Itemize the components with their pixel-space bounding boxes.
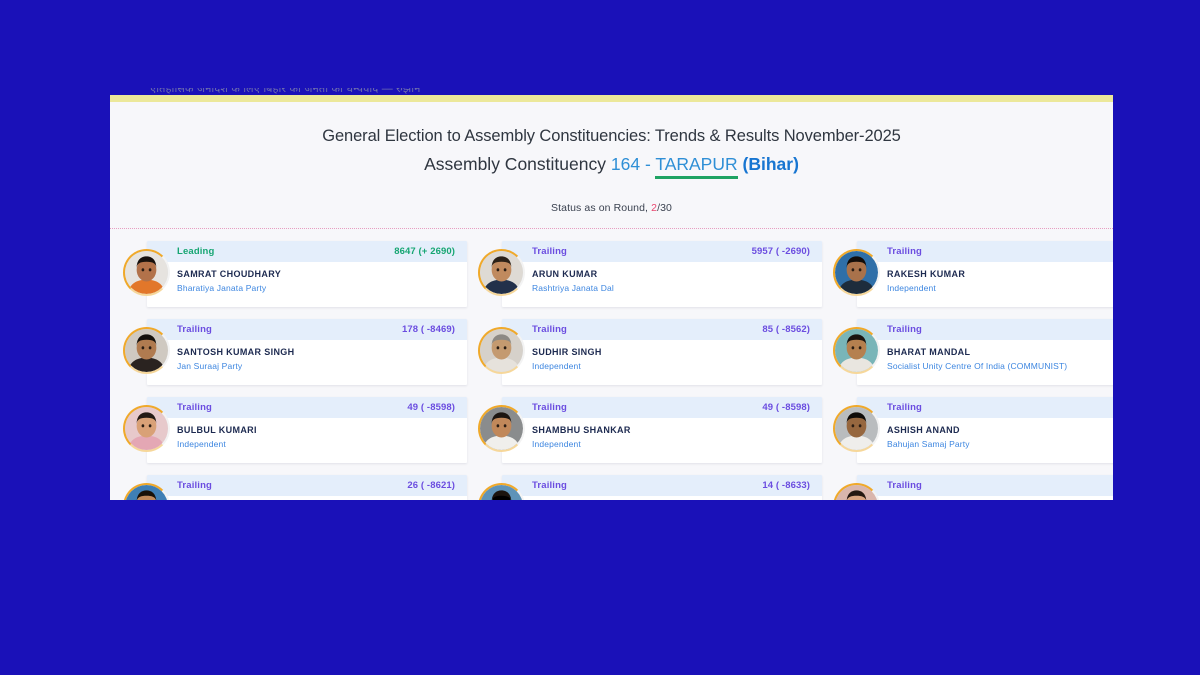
candidate-name: ARUN KUMAR bbox=[532, 268, 810, 280]
round-status-prefix: Status as on Round, bbox=[551, 202, 648, 214]
status-badge: Trailing bbox=[887, 324, 922, 335]
candidate-card-header: Trailing49 ( -8598) bbox=[147, 397, 467, 418]
status-badge: Trailing bbox=[532, 480, 567, 491]
candidate-card-body: BHARAT MANDALSocialist Unity Centre Of I… bbox=[857, 340, 1113, 385]
candidate-name: RAKESH KUMAR bbox=[887, 268, 1113, 280]
candidate-card[interactable]: Trailing178 ( -8469)SANTOSH KUMAR SINGHJ… bbox=[123, 319, 478, 385]
candidate-card-panel[interactable]: Trailing178 ( -8469)SANTOSH KUMAR SINGHJ… bbox=[147, 319, 467, 385]
status-badge: Trailing bbox=[532, 324, 567, 335]
candidate-card[interactable]: Trailing85 ( -8562)SUDHIR SINGHIndepende… bbox=[478, 319, 833, 385]
vote-count: 178 ( -8469) bbox=[402, 324, 455, 335]
candidate-party: Independent bbox=[532, 360, 810, 373]
avatar bbox=[833, 327, 880, 374]
candidate-card-header: Trailing5957 ( -2690) bbox=[502, 241, 822, 262]
candidate-grid: Leading8647 (+ 2690)SAMRAT CHOUDHARYBhar… bbox=[110, 229, 1113, 500]
status-badge: Trailing bbox=[177, 324, 212, 335]
candidate-card-header: Trailing85 ( -8562) bbox=[502, 319, 822, 340]
candidate-name: BULBUL KUMARI bbox=[177, 424, 455, 436]
candidate-card-body: PRIYANKA CHAUHANIndependent bbox=[857, 496, 1113, 500]
avatar bbox=[123, 405, 170, 452]
candidate-card-body: ASHISH ANANDBahujan Samaj Party bbox=[857, 418, 1113, 463]
candidate-card-header: Trailing14 ( -8633) bbox=[502, 475, 822, 496]
candidate-party: Independent bbox=[177, 438, 455, 451]
constituency-prefix: Assembly Constituency bbox=[424, 154, 606, 174]
candidate-card-body: SAMRAT CHOUDHARYBharatiya Janata Party bbox=[147, 262, 467, 307]
ghost-text: ऐतिहासिक जनादेश के लिए बिहार की जनता को … bbox=[150, 88, 421, 95]
candidate-card-header: Trailing49 ( -8598) bbox=[502, 397, 822, 418]
candidate-card-body: SHAMBHU SHANKARIndependent bbox=[502, 418, 822, 463]
status-badge: Trailing bbox=[177, 402, 212, 413]
candidate-card[interactable]: Trailing26 ( -8621)RAHUL KUMAR SINGHAam … bbox=[123, 475, 478, 500]
candidate-card-body: RAHUL KUMAR SINGHAam Aadmi Party bbox=[147, 496, 467, 500]
status-badge: Trailing bbox=[532, 402, 567, 413]
candidate-party: Jan Suraaj Party bbox=[177, 360, 455, 373]
candidate-name: BHARAT MANDAL bbox=[887, 346, 1113, 358]
candidate-party: Bahujan Samaj Party bbox=[887, 438, 1113, 451]
candidate-card-panel[interactable]: TrailingPRIYANKA CHAUHANIndependent bbox=[857, 475, 1113, 500]
candidate-party: Socialist Unity Centre Of India (COMMUNI… bbox=[887, 360, 1113, 373]
candidate-name: SUDHIR SINGH bbox=[532, 346, 810, 358]
scrolled-text-sliver: ऐतिहासिक जनादेश के लिए बिहार की जनता को … bbox=[110, 88, 1113, 95]
candidate-card-header: Trailing178 ( -8469) bbox=[147, 319, 467, 340]
status-badge: Trailing bbox=[887, 246, 922, 257]
candidate-party: Rashtriya Janata Dal bbox=[532, 282, 810, 295]
page-background: ऐतिहासिक जनादेश के लिए बिहार की जनता को … bbox=[0, 0, 1200, 675]
browser-viewport: ऐतिहासिक जनादेश के लिए बिहार की जनता को … bbox=[110, 88, 1113, 500]
page-title: General Election to Assembly Constituenc… bbox=[110, 124, 1113, 149]
candidate-card-panel[interactable]: Trailing49 ( -8598)SHAMBHU SHANKARIndepe… bbox=[502, 397, 822, 463]
results-page: General Election to Assembly Constituenc… bbox=[110, 102, 1113, 500]
page-header: General Election to Assembly Constituenc… bbox=[110, 102, 1113, 229]
candidate-card-body: SUDHIR SINGHIndependent bbox=[502, 340, 822, 385]
candidate-party: Independent bbox=[887, 282, 1113, 295]
candidate-party: Bharatiya Janata Party bbox=[177, 282, 455, 295]
top-accent-rule bbox=[110, 95, 1113, 102]
candidate-card[interactable]: TrailingPRIYANKA CHAUHANIndependent bbox=[833, 475, 1113, 500]
candidate-name: ASHISH ANAND bbox=[887, 424, 1113, 436]
candidate-card-body: BULBUL KUMARIIndependent bbox=[147, 418, 467, 463]
constituency-heading: Assembly Constituency 164 - TARAPUR (Bih… bbox=[110, 150, 1113, 178]
round-status: Status as on Round, 2/30 bbox=[110, 202, 1113, 214]
candidate-card[interactable]: TrailingBHARAT MANDALSocialist Unity Cen… bbox=[833, 319, 1113, 385]
candidate-card[interactable]: Trailing49 ( -8598)SHAMBHU SHANKARIndepe… bbox=[478, 397, 833, 463]
candidate-card[interactable]: Trailing5957 ( -2690)ARUN KUMARRashtriya… bbox=[478, 241, 833, 307]
candidate-card[interactable]: TrailingASHISH ANANDBahujan Samaj Party bbox=[833, 397, 1113, 463]
candidate-card-panel[interactable]: Leading8647 (+ 2690)SAMRAT CHOUDHARYBhar… bbox=[147, 241, 467, 307]
constituency-name: TARAPUR bbox=[655, 154, 737, 179]
candidate-name: SANTOSH KUMAR SINGH bbox=[177, 346, 455, 358]
vote-count: 85 ( -8562) bbox=[762, 324, 810, 335]
candidate-card-body: RAKESH KUMARIndependent bbox=[857, 262, 1113, 307]
candidate-card-panel[interactable]: Trailing49 ( -8598)BULBUL KUMARIIndepend… bbox=[147, 397, 467, 463]
status-badge: Leading bbox=[177, 246, 214, 257]
candidate-card-header: Trailing bbox=[857, 397, 1113, 418]
candidate-card-panel[interactable]: TrailingRAKESH KUMARIndependent bbox=[857, 241, 1113, 307]
vote-count: 49 ( -8598) bbox=[762, 402, 810, 413]
round-total: /30 bbox=[657, 202, 672, 214]
candidate-card-panel[interactable]: Trailing14 ( -8633)DIPAK KUMARIndependen… bbox=[502, 475, 822, 500]
candidate-name: SAMRAT CHOUDHARY bbox=[177, 268, 455, 280]
candidate-card[interactable]: Leading8647 (+ 2690)SAMRAT CHOUDHARYBhar… bbox=[123, 241, 478, 307]
vote-count: 8647 (+ 2690) bbox=[394, 246, 455, 257]
status-badge: Trailing bbox=[532, 246, 567, 257]
avatar bbox=[123, 327, 170, 374]
candidate-card-body: DIPAK KUMARIndependent bbox=[502, 496, 822, 500]
status-badge: Trailing bbox=[887, 480, 922, 491]
avatar bbox=[833, 249, 880, 296]
candidate-card-panel[interactable]: TrailingASHISH ANANDBahujan Samaj Party bbox=[857, 397, 1113, 463]
candidate-card-panel[interactable]: TrailingBHARAT MANDALSocialist Unity Cen… bbox=[857, 319, 1113, 385]
avatar bbox=[123, 249, 170, 296]
candidate-name: SHAMBHU SHANKAR bbox=[532, 424, 810, 436]
candidate-card-body: SANTOSH KUMAR SINGHJan Suraaj Party bbox=[147, 340, 467, 385]
avatar bbox=[478, 327, 525, 374]
avatar bbox=[833, 405, 880, 452]
candidate-card[interactable]: Trailing14 ( -8633)DIPAK KUMARIndependen… bbox=[478, 475, 833, 500]
state-name: (Bihar) bbox=[743, 154, 799, 174]
candidate-card-header: Trailing bbox=[857, 241, 1113, 262]
candidate-card-panel[interactable]: Trailing5957 ( -2690)ARUN KUMARRashtriya… bbox=[502, 241, 822, 307]
candidate-card-header: Trailing bbox=[857, 475, 1113, 496]
candidate-card-header: Leading8647 (+ 2690) bbox=[147, 241, 467, 262]
vote-count: 26 ( -8621) bbox=[407, 480, 455, 491]
heading-separator: - bbox=[645, 154, 651, 174]
constituency-number: 164 bbox=[611, 154, 640, 174]
status-badge: Trailing bbox=[177, 480, 212, 491]
candidate-card-body: ARUN KUMARRashtriya Janata Dal bbox=[502, 262, 822, 307]
candidate-card[interactable]: Trailing49 ( -8598)BULBUL KUMARIIndepend… bbox=[123, 397, 478, 463]
avatar bbox=[478, 249, 525, 296]
status-badge: Trailing bbox=[887, 402, 922, 413]
vote-count: 49 ( -8598) bbox=[407, 402, 455, 413]
candidate-card-header: Trailing26 ( -8621) bbox=[147, 475, 467, 496]
vote-count: 14 ( -8633) bbox=[762, 480, 810, 491]
candidate-card-panel[interactable]: Trailing85 ( -8562)SUDHIR SINGHIndepende… bbox=[502, 319, 822, 385]
candidate-card-panel[interactable]: Trailing26 ( -8621)RAHUL KUMAR SINGHAam … bbox=[147, 475, 467, 500]
vote-count: 5957 ( -2690) bbox=[752, 246, 810, 257]
candidate-card[interactable]: TrailingRAKESH KUMARIndependent bbox=[833, 241, 1113, 307]
candidate-card-header: Trailing bbox=[857, 319, 1113, 340]
avatar bbox=[478, 405, 525, 452]
candidate-party: Independent bbox=[532, 438, 810, 451]
